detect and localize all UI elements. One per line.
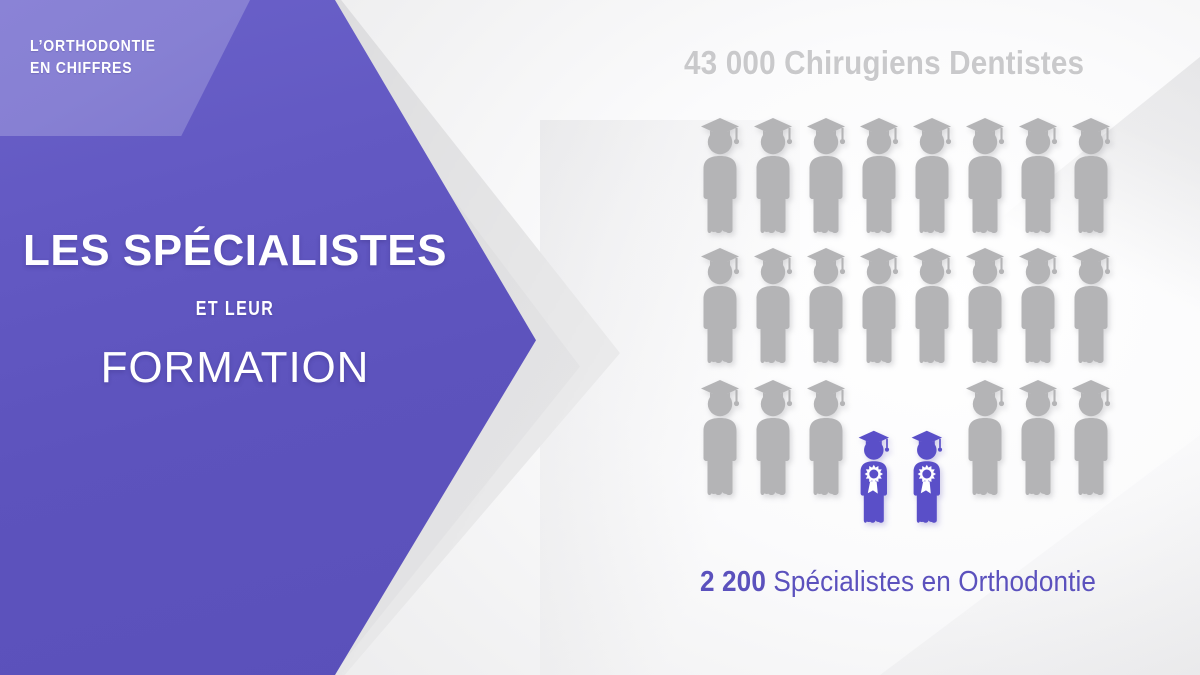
pictogram-row-2 <box>694 242 1114 367</box>
title-line-3: FORMATION <box>0 343 470 393</box>
pictogram-icon-dentist <box>1012 242 1064 366</box>
pictogram-icon-dentist <box>800 242 852 366</box>
pictogram-icon-specialist <box>906 426 948 525</box>
pictogram-icon-dentist <box>1012 374 1064 498</box>
pictogram-icon-dentist <box>694 374 746 498</box>
banner-line-2: EN CHIFFRES <box>30 58 215 80</box>
pictogram-icon-dentist <box>959 374 1011 498</box>
pictogram-icon-specialist <box>853 426 895 525</box>
header-banner-text: L’ORTHODONTIE EN CHIFFRES <box>30 36 215 80</box>
pictogram-icon-dentist <box>747 242 799 366</box>
title-line-2: ET LEUR <box>47 298 423 321</box>
banner-line-1: L’ORTHODONTIE <box>30 36 215 58</box>
pictogram-icon-dentist <box>853 112 905 236</box>
pictogram-icon-dentist <box>694 112 746 236</box>
pictogram-icon-dentist <box>1065 374 1117 498</box>
caption-total-dentists: 43 000 Chirugiens Dentistes <box>684 44 1084 82</box>
pictogram-icon-dentist <box>747 374 799 498</box>
pictogram-row-3 <box>694 374 1114 499</box>
pictogram-chart <box>694 112 1114 572</box>
pictogram-icon-dentist <box>959 112 1011 236</box>
pictogram-icon-dentist <box>959 242 1011 366</box>
pictogram-icon-dentist <box>800 374 852 498</box>
pictogram-icon-dentist <box>1012 112 1064 236</box>
pictogram-icon-dentist <box>1065 242 1117 366</box>
pictogram-icon-dentist <box>800 112 852 236</box>
pictogram-icon-dentist <box>906 242 958 366</box>
caption-specialists-value: 2 200 <box>700 566 773 598</box>
caption-specialists-label: Spécialistes en Orthodontie <box>773 566 1096 598</box>
caption-specialists: 2 200 Spécialistes en Orthodontie <box>700 566 1096 599</box>
page-title: LES SPÉCIALISTES ET LEUR FORMATION <box>0 228 470 393</box>
infographic-slide: L’ORTHODONTIE EN CHIFFRES LES SPÉCIALIST… <box>0 0 1200 675</box>
pictogram-row-1 <box>694 112 1114 237</box>
pictogram-icon-dentist <box>1065 112 1117 236</box>
pictogram-icon-dentist <box>694 242 746 366</box>
title-line-1: LES SPÉCIALISTES <box>0 228 470 274</box>
pictogram-icon-dentist <box>747 112 799 236</box>
pictogram-icon-dentist <box>853 242 905 366</box>
pictogram-icon-dentist <box>906 112 958 236</box>
